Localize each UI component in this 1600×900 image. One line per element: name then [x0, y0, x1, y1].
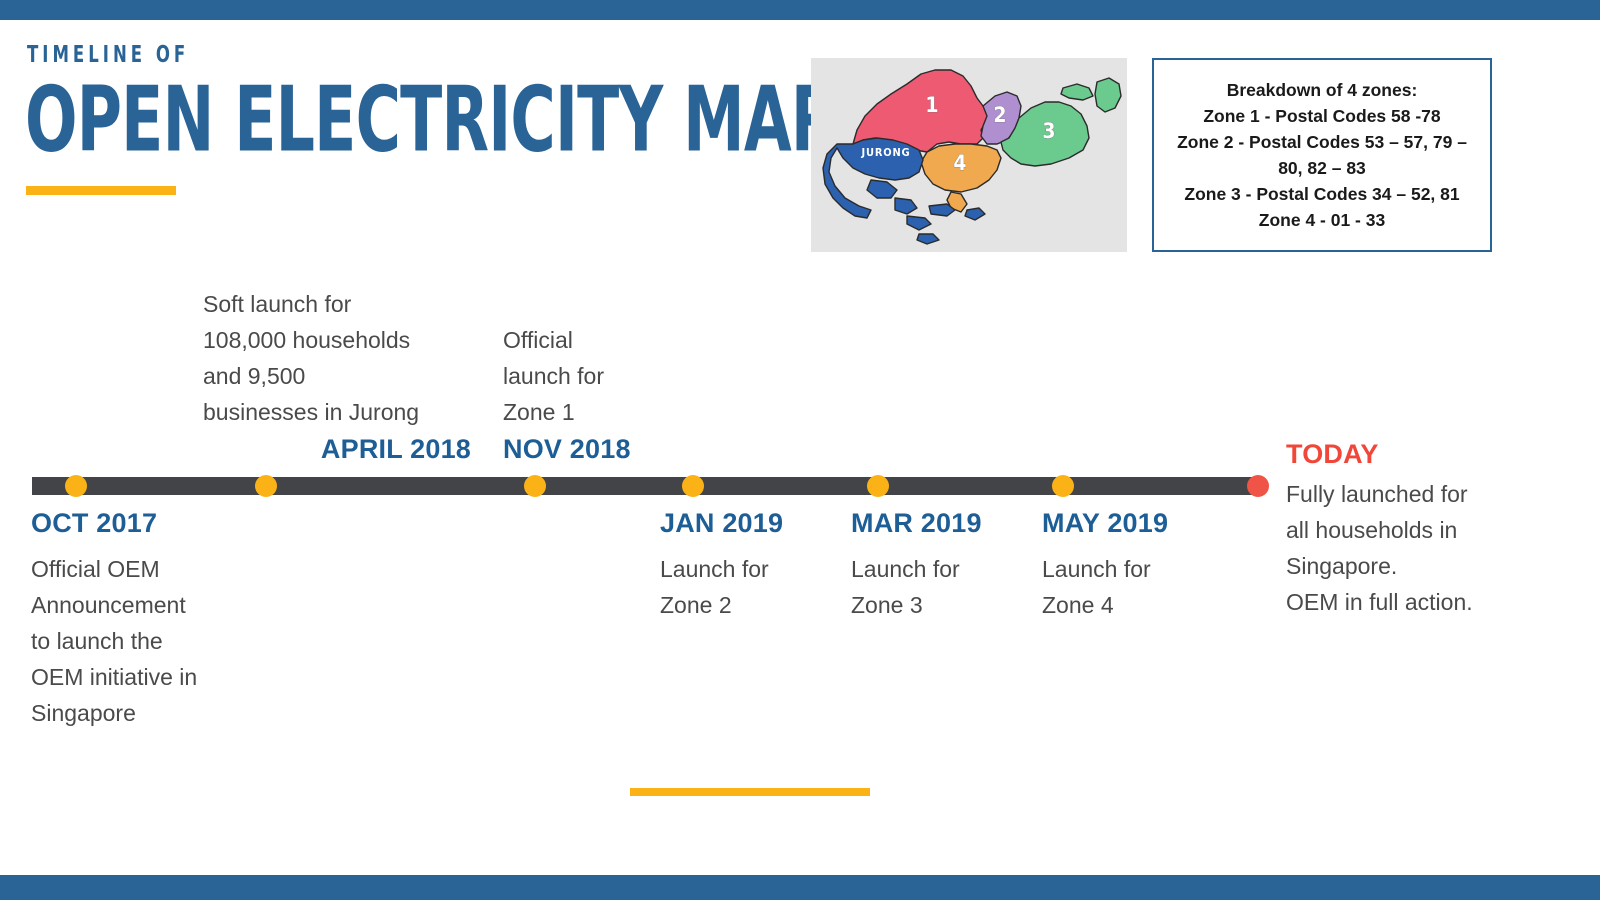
map-label-jurong: JURONG — [861, 146, 911, 159]
singapore-zone-map: 1 2 3 4 JURONG — [811, 58, 1127, 252]
title-underline-rule — [26, 186, 176, 195]
legend-line-zone1: Zone 1 - Postal Codes 58 -78 — [1177, 103, 1467, 129]
event-description-jan-2019: Launch forZone 2 — [660, 551, 835, 623]
timeline-rail — [32, 477, 1262, 495]
map-zone-3-island — [1095, 78, 1121, 112]
timeline-dot-april-2018[interactable] — [255, 475, 277, 497]
timeline-dot-jan-2019[interactable] — [682, 475, 704, 497]
infographic-page: TIMELINE OF OPEN ELECTRICITY MARKET — [0, 0, 1600, 900]
event-description-april-2018: Soft launch for108,000 householdsand 9,5… — [203, 286, 493, 430]
map-island-2 — [895, 198, 917, 214]
map-label-zone-4: 4 — [953, 151, 966, 175]
legend-line-zone4: Zone 4 - 01 - 33 — [1177, 207, 1467, 233]
timeline-dot-oct-2017[interactable] — [65, 475, 87, 497]
legend-line-zone2b: 80, 82 – 83 — [1177, 155, 1467, 181]
event-date-may-2019: MAY 2019 — [1042, 508, 1217, 539]
event-description-nov-2018: Officiallaunch forZone 1 — [503, 322, 703, 430]
timeline-event-oct-2017: OCT 2017 Official OEMAnnouncementto laun… — [31, 508, 281, 731]
legend-line-zone2a: Zone 2 - Postal Codes 53 – 57, 79 – — [1177, 129, 1467, 155]
timeline-dot-today[interactable] — [1247, 475, 1269, 497]
map-label-zone-3: 3 — [1042, 119, 1055, 143]
map-label-zone-1: 1 — [925, 93, 938, 117]
zone-breakdown-legend: Breakdown of 4 zones: Zone 1 - Postal Co… — [1152, 58, 1492, 252]
event-date-nov-2018: NOV 2018 — [503, 434, 703, 465]
timeline-event-jan-2019: JAN 2019 Launch forZone 2 — [660, 508, 835, 623]
timeline-event-today: TODAY Fully launched forall households i… — [1286, 439, 1586, 620]
legend-heading: Breakdown of 4 zones: — [1177, 77, 1467, 103]
event-date-today: TODAY — [1286, 439, 1586, 470]
event-date-jan-2019: JAN 2019 — [660, 508, 835, 539]
event-date-april-2018: APRIL 2018 — [203, 434, 493, 465]
event-description-may-2019: Launch forZone 4 — [1042, 551, 1217, 623]
timeline-event-may-2019: MAY 2019 Launch forZone 4 — [1042, 508, 1217, 623]
map-label-zone-2: 2 — [993, 103, 1006, 127]
legend-line-zone3: Zone 3 - Postal Codes 34 – 52, 81 — [1177, 181, 1467, 207]
timeline-event-nov-2018: Officiallaunch forZone 1 NOV 2018 — [503, 311, 703, 465]
timeline-event-mar-2019: MAR 2019 Launch forZone 3 — [851, 508, 1026, 623]
timeline-event-april-2018: Soft launch for108,000 householdsand 9,5… — [203, 275, 493, 465]
map-island-6 — [965, 208, 985, 220]
timeline-dot-nov-2018[interactable] — [524, 475, 546, 497]
event-description-mar-2019: Launch forZone 3 — [851, 551, 1026, 623]
map-island-3 — [907, 216, 931, 230]
event-description-oct-2017: Official OEMAnnouncementto launch theOEM… — [31, 551, 281, 731]
timeline-dot-may-2019[interactable] — [1052, 475, 1074, 497]
event-date-mar-2019: MAR 2019 — [851, 508, 1026, 539]
map-island-1 — [867, 180, 897, 198]
bottom-decorative-rule — [630, 788, 870, 796]
map-illustration: 1 2 3 4 JURONG — [811, 58, 1127, 252]
map-island-5 — [917, 234, 939, 244]
event-date-oct-2017: OCT 2017 — [31, 508, 281, 539]
bottom-accent-bar — [0, 875, 1600, 900]
top-accent-bar — [0, 0, 1600, 20]
kicker-text: TIMELINE OF — [27, 42, 189, 68]
map-zone-3-island-2 — [1061, 84, 1093, 100]
timeline-dot-mar-2019[interactable] — [867, 475, 889, 497]
event-description-today: Fully launched forall households inSinga… — [1286, 476, 1586, 620]
